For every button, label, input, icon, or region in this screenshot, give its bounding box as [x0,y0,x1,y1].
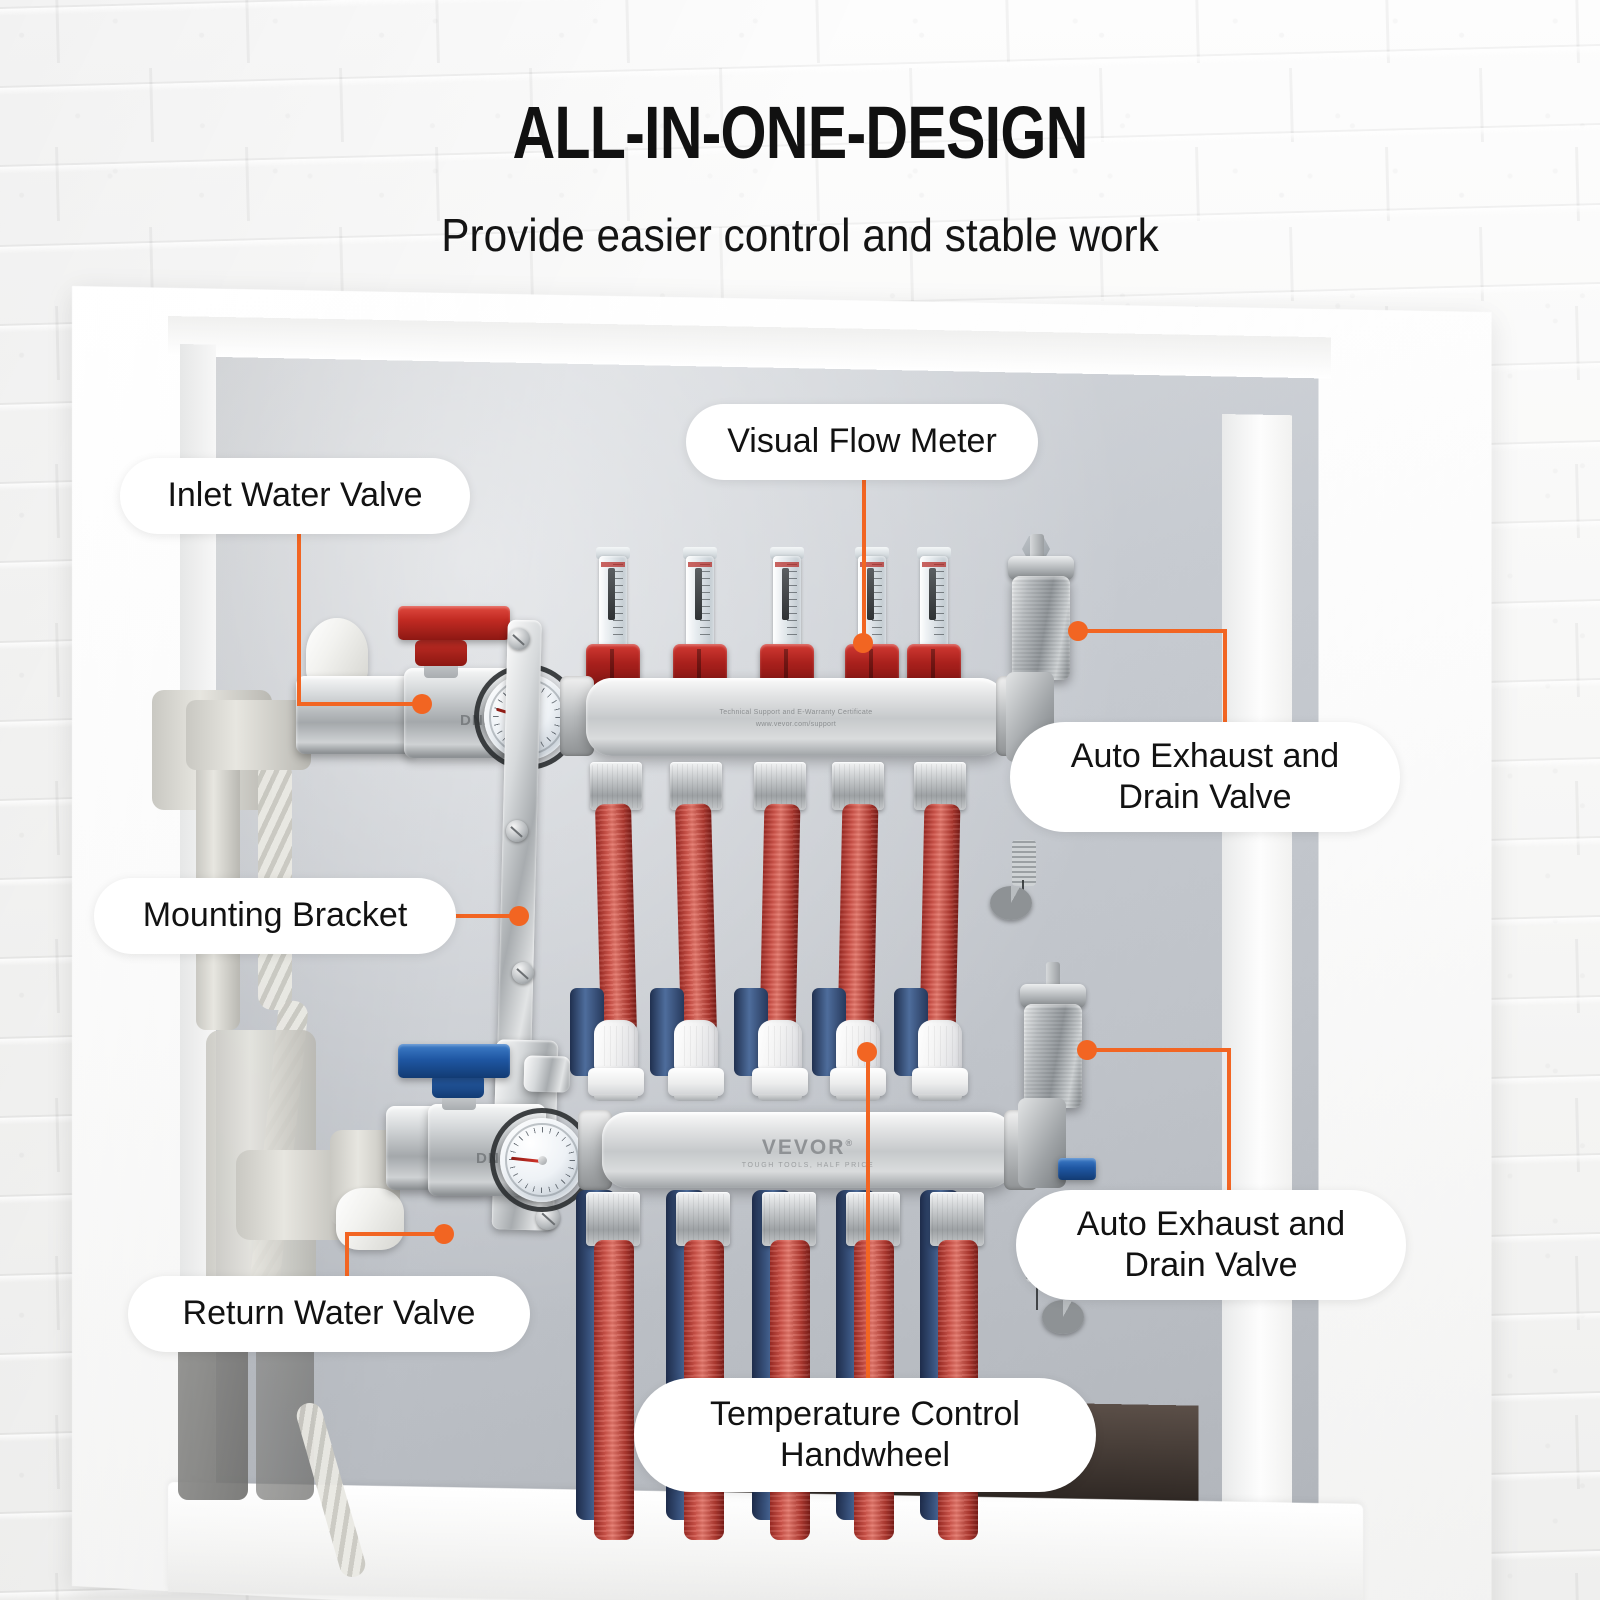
callout-return-water-valve[interactable]: Return Water Valve [128,1276,530,1352]
callout-label-auto-exhaust-lower-line2: Drain Valve [1124,1245,1297,1286]
callout-label-mounting-bracket: Mounting Bracket [143,896,408,935]
flow-meter-index-5 [922,562,946,567]
callout-label-auto-exhaust-upper-line2: Drain Valve [1118,777,1291,818]
nut-texture-u1 [592,764,640,808]
inlet-pipe [186,700,311,770]
compression-nut-lower-5 [930,1192,984,1246]
callout-visual-flow-meter[interactable]: Visual Flow Meter [686,404,1038,480]
nut-texture-l5 [932,1194,982,1244]
aev-texture-upper [1012,576,1070,680]
compression-nut-lower-4 [846,1192,900,1246]
manifold-support-text-line2: www.vevor.com/support [586,720,1006,729]
inlet-valve-handle[interactable] [398,606,510,640]
compression-nut-lower-2 [676,1192,730,1246]
inlet-handle-boss [415,640,467,666]
vevor-logo: VEVOR® [602,1136,1014,1160]
inlet-union-nut [296,676,416,754]
bracket-clamp-lower [524,1055,571,1092]
bracket-screw-middle [506,820,528,842]
handwheel-knob-5[interactable] [918,1020,962,1070]
leader-inlet-water-valve-h [297,702,419,706]
callout-label-return-water-valve: Return Water Valve [183,1294,476,1333]
handwheel-base-1 [588,1068,644,1096]
callout-mounting-bracket[interactable]: Mounting Bracket [94,878,456,954]
leader-dot-return-water-valve [434,1224,454,1244]
flow-meter-float-4 [867,568,874,620]
nut-texture-l4 [848,1194,898,1244]
leader-return-water-valve-h [345,1232,442,1236]
callout-auto-exhaust-lower[interactable]: Auto Exhaust and Drain Valve [1016,1190,1406,1300]
flow-meter-float-1 [608,568,615,620]
flow-meter-tube-3 [773,556,801,648]
handwheel-base-4 [830,1068,886,1096]
leader-mounting-bracket [455,914,517,918]
upper-manifold-bar: Technical Support and E-Warranty Certifi… [586,678,1006,756]
return-water-valve-handle[interactable] [398,1044,510,1078]
vevor-tagline: TOUGH TOOLS, HALF PRICE [602,1162,1014,1169]
leader-dot-temperature-control [857,1042,877,1062]
leader-dot-mounting-bracket [509,906,529,926]
auto-exhaust-drain-valve-lower [1024,1004,1082,1108]
flow-meter-float-5 [929,568,936,620]
leader-dot-inlet-water-valve [412,694,432,714]
compression-nut-upper-3 [754,762,806,810]
cabinet-right-wall [1222,414,1292,1509]
return-red-pipe-1 [594,1240,634,1540]
handwheel-ribs-2 [684,1026,720,1066]
nut-texture-u2 [672,764,720,808]
leader-dot-auto-exhaust-lower [1077,1040,1097,1060]
page-title: ALL-IN-ONE-DESIGN [160,96,1440,170]
leader-auto-exhaust-lower-v [1227,1048,1231,1213]
leader-auto-exhaust-upper-h [1082,629,1227,633]
callout-temperature-control[interactable]: Temperature Control Handwheel [634,1378,1096,1492]
drain-cap-lower [1042,1300,1084,1334]
nut-texture-u3 [756,764,804,808]
flow-meter-tube-1 [599,556,627,648]
leader-dot-visual-flow-meter [853,633,873,653]
callout-label-temperature-control-line1: Temperature Control [710,1394,1020,1435]
manifold-support-text-line1: Technical Support and E-Warranty Certifi… [586,708,1006,717]
handwheel-knob-1[interactable] [594,1020,638,1070]
handwheel-knob-2[interactable] [674,1020,718,1070]
handwheel-foot-4 [836,1094,880,1101]
nut-texture-u5 [916,764,964,808]
handwheel-ribs-5 [928,1026,964,1066]
nut-texture-l2 [678,1194,728,1244]
compression-nut-upper-2 [670,762,722,810]
nut-texture-l3 [764,1194,814,1244]
handwheel-foot-3 [758,1094,802,1101]
handwheel-foot-2 [674,1094,718,1101]
compression-nut-lower-3 [762,1192,816,1246]
flow-meter-float-2 [695,568,702,620]
compression-nut-upper-1 [590,762,642,810]
callout-label-inlet-water-valve: Inlet Water Valve [167,476,422,515]
flow-meter-float-3 [782,568,789,620]
leader-auto-exhaust-lower-h [1091,1048,1231,1052]
flow-meter-tube-5 [920,556,948,648]
auto-exhaust-drain-valve-upper [1012,576,1070,680]
flow-meter-index-1 [601,562,625,567]
callout-label-auto-exhaust-lower-line1: Auto Exhaust and [1077,1204,1345,1245]
handwheel-base-2 [668,1068,724,1096]
flow-meter-index-2 [688,562,712,567]
drain-valve-handle-lower[interactable] [1058,1158,1096,1180]
return-red-texture-1 [594,1240,634,1540]
lower-manifold-bar: VEVOR® TOUGH TOOLS, HALF PRICE [602,1112,1014,1188]
handwheel-foot-5 [918,1094,962,1101]
callout-inlet-water-valve[interactable]: Inlet Water Valve [120,458,470,534]
nut-texture-l1 [588,1194,638,1244]
handwheel-base-3 [752,1068,808,1096]
compression-nut-lower-1 [586,1192,640,1246]
leader-dot-auto-exhaust-upper [1068,621,1088,641]
handwheel-foot-1 [594,1094,638,1101]
callout-label-visual-flow-meter: Visual Flow Meter [727,422,997,461]
handwheel-base-5 [912,1068,968,1096]
leader-visual-flow-meter [862,476,866,644]
handwheel-knob-3[interactable] [758,1020,802,1070]
flow-meter-index-3 [775,562,799,567]
compression-nut-upper-4 [832,762,884,810]
handwheel-ribs-1 [604,1026,640,1066]
handwheel-ribs-3 [768,1026,804,1066]
bracket-screw-top [508,628,530,650]
infographic-canvas: ALL-IN-ONE-DESIGN Provide easier control… [0,0,1600,1600]
bracket-screw-lower [512,962,534,984]
page-subtitle: Provide easier control and stable work [64,212,1536,258]
drain-cap-upper [990,886,1032,920]
drain-spout-upper [1012,840,1036,886]
leader-temperature-control [866,1050,870,1392]
flow-meter-tube-2 [686,556,714,648]
callout-auto-exhaust-upper[interactable]: Auto Exhaust and Drain Valve [1010,722,1400,832]
callout-label-temperature-control-line2: Handwheel [780,1435,950,1476]
leader-inlet-water-valve-v [297,530,301,704]
callout-label-auto-exhaust-upper-line1: Auto Exhaust and [1071,736,1339,777]
compression-nut-upper-5 [914,762,966,810]
nut-texture-u4 [834,764,882,808]
aev-texture-lower [1024,1004,1082,1108]
